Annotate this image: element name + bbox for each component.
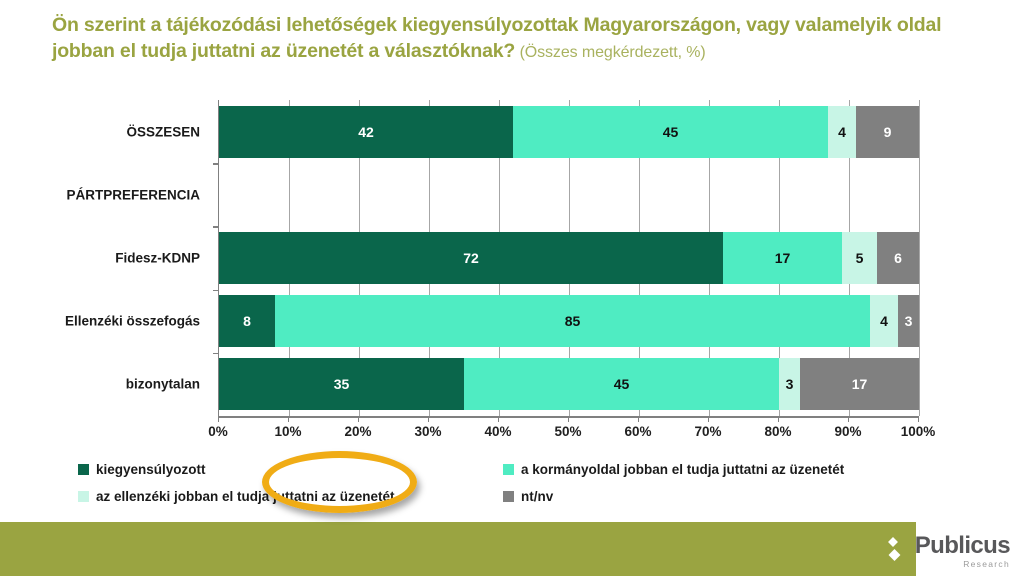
bar-segment: 9 [856,106,919,158]
bar-value-label: 3 [786,377,794,391]
bar-segment: 35 [219,358,464,410]
legend-item[interactable]: a kormányoldal jobban el tudja juttatni … [503,462,844,477]
bar-segment: 72 [219,232,723,284]
legend-label: a kormányoldal jobban el tudja juttatni … [521,462,844,477]
bar-segment: 45 [513,106,828,158]
category-axis-tick [213,163,219,165]
bar-segment: 8 [219,295,275,347]
x-axis-tick [848,416,849,422]
category-label: ÖSSZESEN [126,124,200,139]
bar-value-label: 17 [775,251,791,265]
logo-name: Publicus [915,534,1010,558]
plot-area: 424549721756885433545317 [218,100,919,416]
x-axis-tick-label: 90% [834,424,861,439]
legend-label: kiegyensúlyozott [96,462,206,477]
bar-value-label: 4 [880,314,888,328]
bar-row: 721756 [219,232,919,284]
footer-bar [0,522,916,576]
legend-item[interactable]: kiegyensúlyozott [78,462,206,477]
x-axis-tick [358,416,359,422]
logo-text: Publicus Research [915,534,1010,569]
bar-segment: 4 [828,106,856,158]
x-axis-tick-labels: 0%10%20%30%40%50%60%70%80%90%100% [218,424,918,444]
bar-segment: 45 [464,358,779,410]
category-axis-tick [213,353,219,355]
category-label: PÁRTPREFERENCIA [66,187,200,202]
x-axis-tick [778,416,779,422]
bar-row: 3545317 [219,358,919,410]
x-axis-tick-label: 0% [208,424,228,439]
legend-item[interactable]: nt/nv [503,489,553,504]
x-axis-tick [218,416,219,422]
bar-value-label: 72 [463,251,479,265]
bar-value-label: 3 [905,314,913,328]
legend-item[interactable]: az ellenzéki jobban el tudja juttatni az… [78,489,395,504]
bar-value-label: 45 [614,377,630,391]
bar-segment: 17 [723,232,842,284]
bar-value-label: 9 [884,125,892,139]
x-axis-tick-label: 30% [414,424,441,439]
bar-row [219,169,919,221]
x-axis-tick-label: 100% [901,424,936,439]
bar-segment: 42 [219,106,513,158]
legend-swatch [78,491,89,502]
bar-segment: 3 [779,358,800,410]
category-label: bizonytalan [126,377,200,392]
bar-segment: 4 [870,295,898,347]
chart-legend: kiegyensúlyozotta kormányoldal jobban el… [78,462,958,512]
bar-value-label: 35 [334,377,350,391]
legend-swatch [78,464,89,475]
gridline [919,100,920,416]
x-axis-tick [288,416,289,422]
bar-segment: 3 [898,295,919,347]
bar-row: 88543 [219,295,919,347]
bar-value-label: 6 [894,251,902,265]
bar-value-label: 85 [565,314,581,328]
x-axis-tick-label: 10% [274,424,301,439]
bar-segment: 5 [842,232,877,284]
diamond-logo-icon [878,536,908,566]
category-axis-labels: ÖSSZESENPÁRTPREFERENCIAFidesz-KDNPEllenz… [0,96,210,416]
x-axis-tick [638,416,639,422]
legend-swatch [503,491,514,502]
bar-segment: 6 [877,232,919,284]
category-label: Ellenzéki összefogás [65,314,200,329]
bar-segment: 85 [275,295,870,347]
bar-row: 424549 [219,106,919,158]
bar-value-label: 42 [358,125,374,139]
category-axis-tick [213,290,219,292]
x-axis-ticks [218,416,918,422]
stacked-bar-chart: ÖSSZESENPÁRTPREFERENCIAFidesz-KDNPEllenz… [0,96,1024,448]
bar-value-label: 8 [243,314,251,328]
x-axis-tick [708,416,709,422]
x-axis-tick-label: 80% [764,424,791,439]
title-subtitle: (Összes megkérdezett, %) [520,44,706,61]
x-axis-tick [428,416,429,422]
category-label: Fidesz-KDNP [115,251,200,266]
x-axis-tick [498,416,499,422]
bar-value-label: 5 [856,251,864,265]
bar-value-label: 45 [663,125,679,139]
legend-label: az ellenzéki jobban el tudja juttatni az… [96,489,395,504]
x-axis-tick-label: 60% [624,424,651,439]
x-axis-tick [568,416,569,422]
x-axis-tick-label: 20% [344,424,371,439]
title-main: Ön szerint a tájékozódási lehetőségek ki… [52,14,941,62]
bar-value-label: 17 [852,377,868,391]
bar-segment: 17 [800,358,919,410]
logo-subtitle: Research [963,560,1010,569]
bar-value-label: 4 [838,125,846,139]
page-title: Ön szerint a tájékozódási lehetőségek ki… [52,12,952,64]
x-axis-tick [918,416,919,422]
x-axis-tick-label: 70% [694,424,721,439]
legend-label: nt/nv [521,489,553,504]
x-axis-tick-label: 40% [484,424,511,439]
publicus-logo: Publicus Research [878,534,1010,569]
x-axis-tick-label: 50% [554,424,581,439]
legend-swatch [503,464,514,475]
category-axis-tick [213,226,219,228]
